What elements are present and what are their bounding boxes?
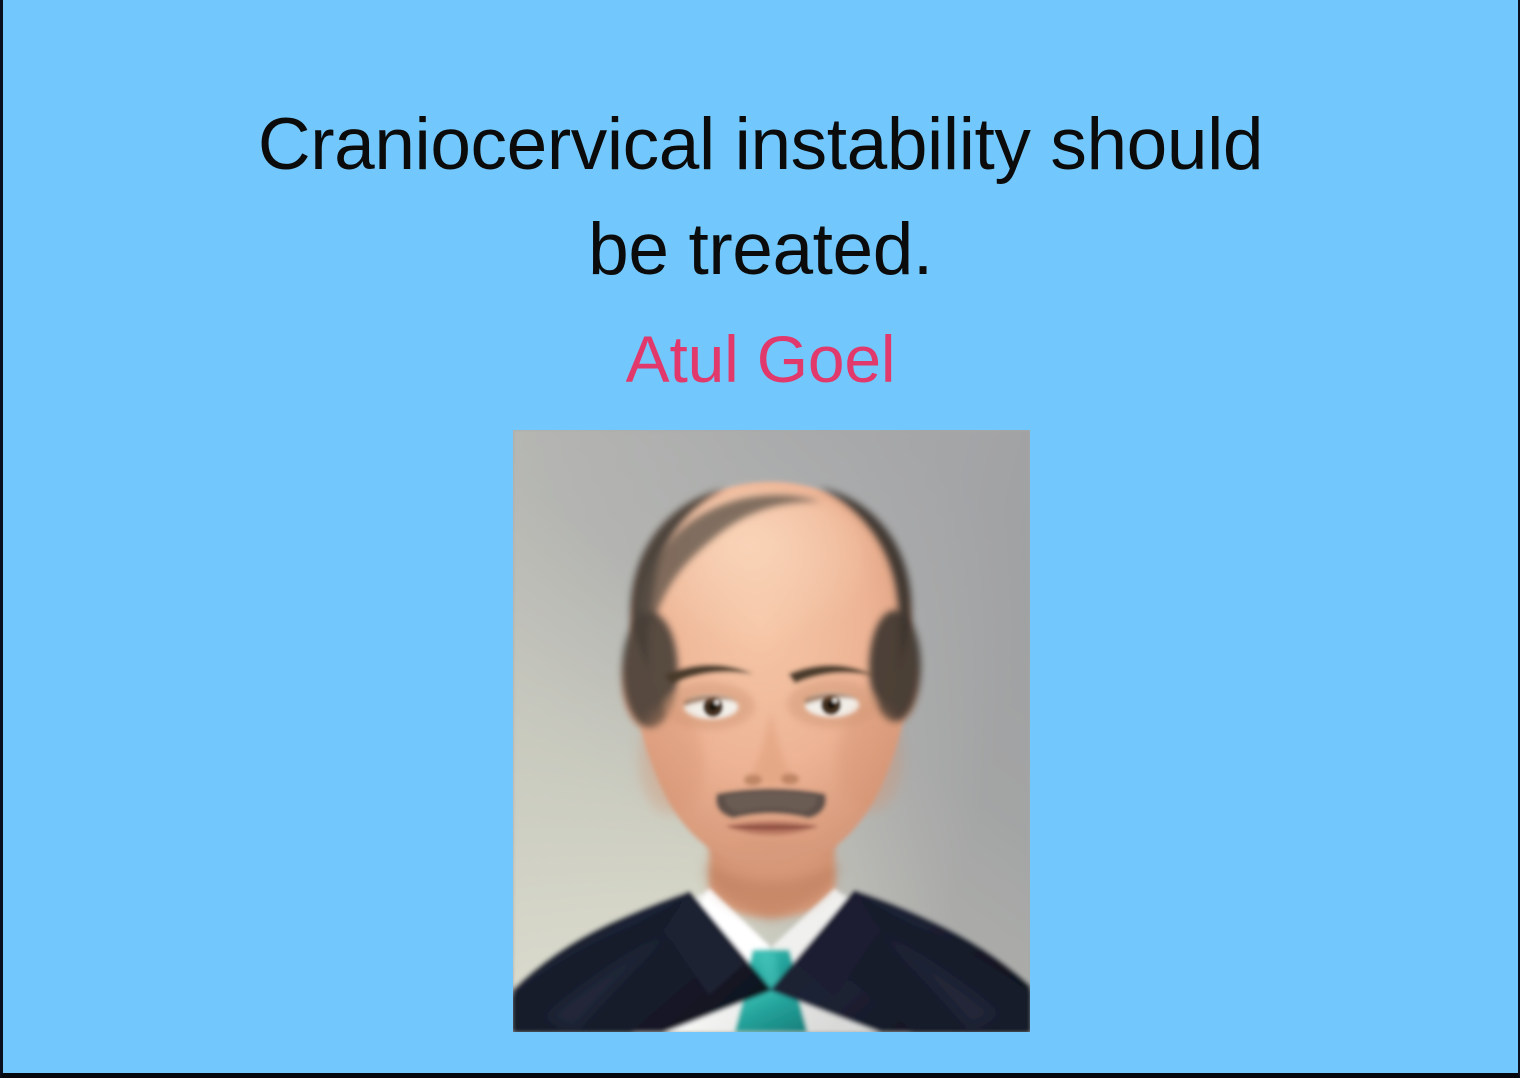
portrait-photo <box>513 430 1030 1032</box>
author-name: Atul Goel <box>3 316 1518 402</box>
title-line-2: be treated. <box>93 197 1428 302</box>
presentation-slide: Craniocervical instability should be tre… <box>0 0 1520 1078</box>
portrait-illustration <box>513 430 1030 1032</box>
slide-title: Craniocervical instability should be tre… <box>3 92 1518 302</box>
title-line-1: Craniocervical instability should <box>93 92 1428 197</box>
